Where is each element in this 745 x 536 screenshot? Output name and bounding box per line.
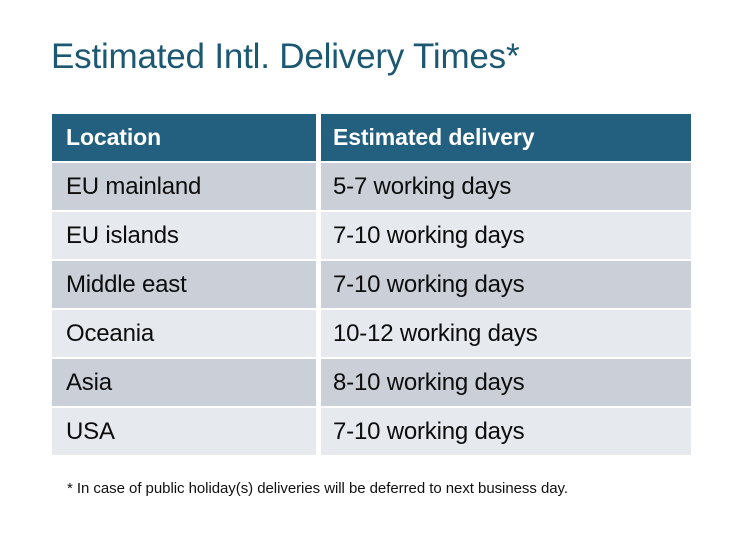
cell-location-text: Asia (66, 369, 112, 397)
header-label-delivery: Estimated delivery (333, 124, 534, 151)
table-header-row: Location Estimated delivery (52, 114, 691, 161)
table-row: USA 7-10 working days (52, 408, 691, 455)
cell-delivery-text: 8-10 working days (333, 369, 524, 397)
cell-location-text: USA (66, 418, 115, 446)
cell-delivery: 7-10 working days (321, 212, 691, 259)
cell-location: USA (52, 408, 316, 455)
delivery-times-page: Estimated Intl. Delivery Times* Location… (0, 0, 745, 536)
cell-location: EU islands (52, 212, 316, 259)
cell-delivery-text: 7-10 working days (333, 271, 524, 299)
page-title: Estimated Intl. Delivery Times* (51, 36, 519, 78)
cell-delivery: 7-10 working days (321, 261, 691, 308)
cell-location-text: Middle east (66, 271, 187, 299)
table-row: EU mainland 5-7 working days (52, 163, 691, 210)
header-label-location: Location (66, 124, 161, 151)
table-row: Oceania 10-12 working days (52, 310, 691, 357)
table-row: Middle east 7-10 working days (52, 261, 691, 308)
cell-location-text: EU islands (66, 222, 179, 250)
cell-delivery: 8-10 working days (321, 359, 691, 406)
cell-location: EU mainland (52, 163, 316, 210)
cell-delivery-text: 10-12 working days (333, 320, 538, 348)
cell-delivery-text: 7-10 working days (333, 222, 524, 250)
cell-location: Oceania (52, 310, 316, 357)
cell-location: Middle east (52, 261, 316, 308)
cell-delivery: 5-7 working days (321, 163, 691, 210)
table-row: EU islands 7-10 working days (52, 212, 691, 259)
cell-delivery-text: 7-10 working days (333, 418, 524, 446)
header-cell-location: Location (52, 114, 316, 161)
cell-location-text: Oceania (66, 320, 154, 348)
footnote-text: * In case of public holiday(s) deliverie… (67, 479, 568, 499)
cell-location: Asia (52, 359, 316, 406)
cell-delivery-text: 5-7 working days (333, 173, 511, 201)
cell-delivery: 7-10 working days (321, 408, 691, 455)
cell-location-text: EU mainland (66, 173, 201, 201)
header-cell-delivery: Estimated delivery (321, 114, 691, 161)
cell-delivery: 10-12 working days (321, 310, 691, 357)
table-row: Asia 8-10 working days (52, 359, 691, 406)
